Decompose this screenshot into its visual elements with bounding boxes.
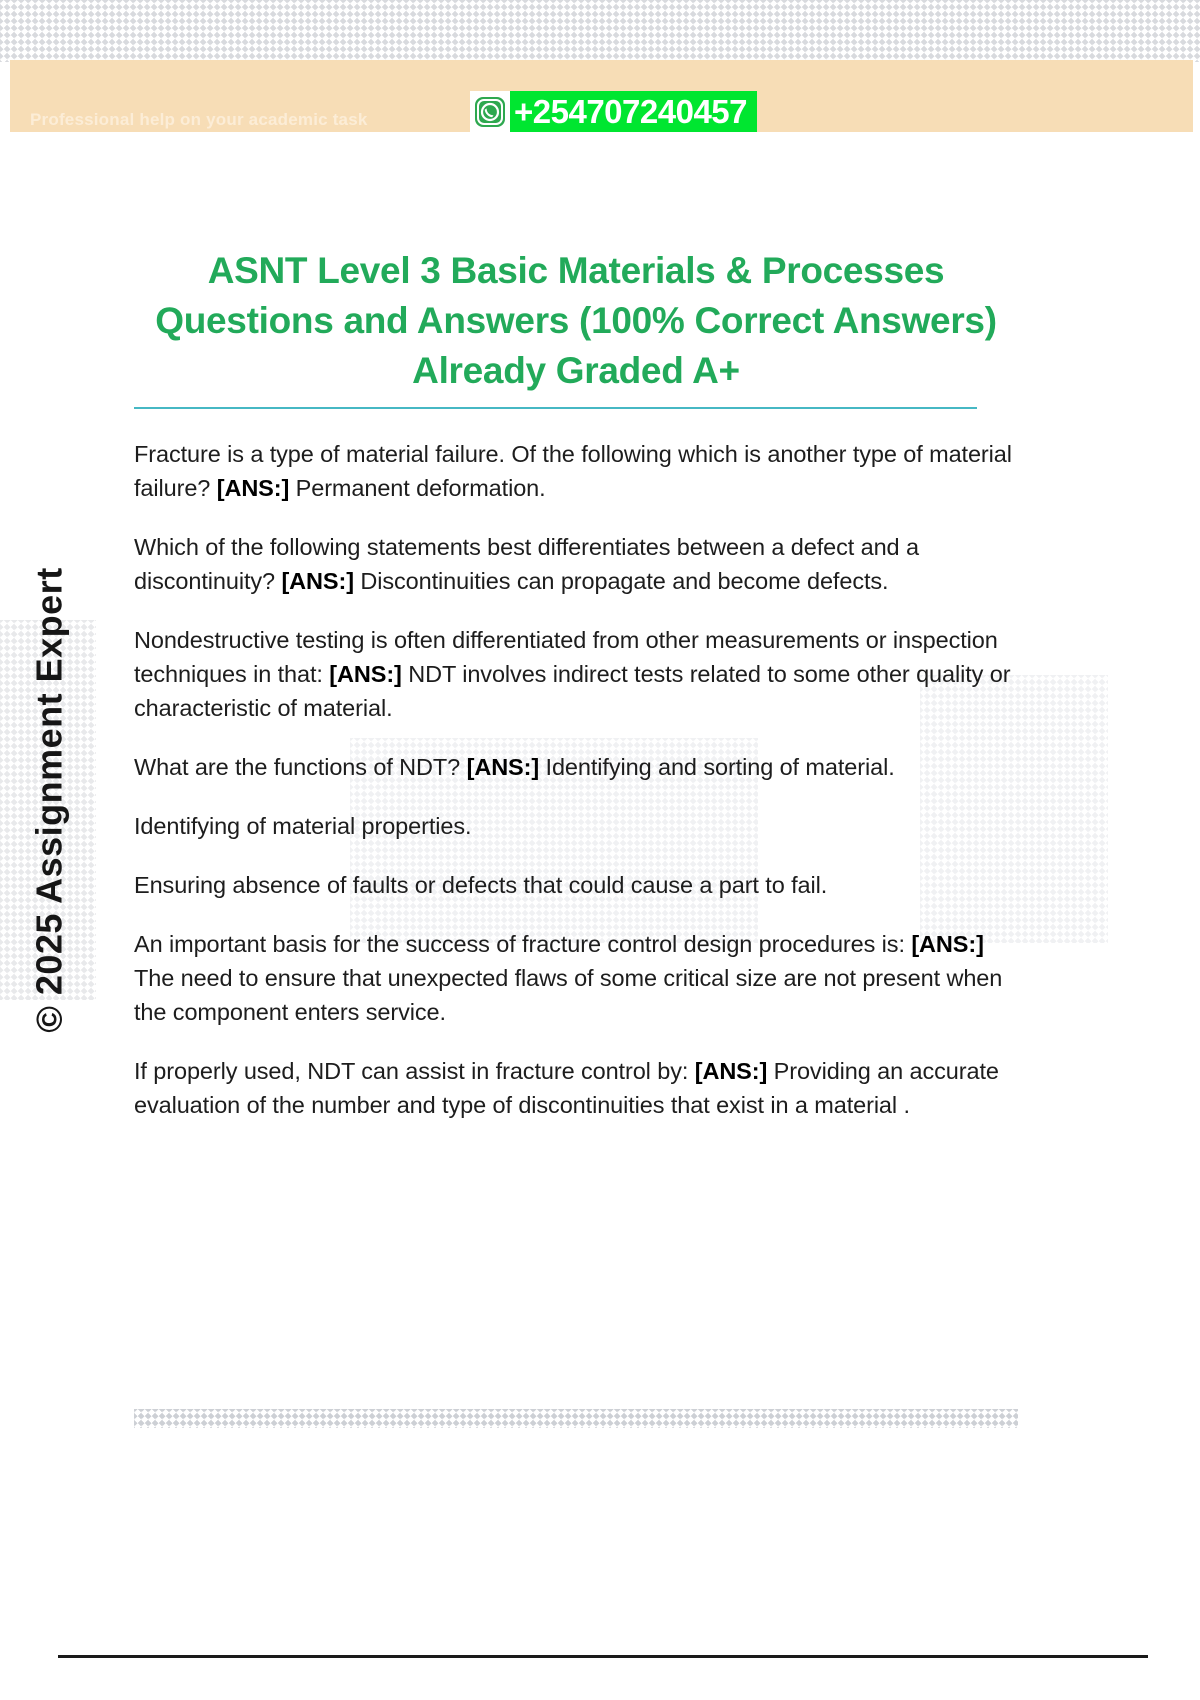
answer-tag: [ANS:] — [281, 568, 354, 594]
promo-banner-text: Professional help on your academic task — [30, 110, 368, 130]
qa-paragraph: What are the functions of NDT? [ANS:] Id… — [134, 750, 1018, 784]
qa-question: If properly used, NDT can assist in frac… — [134, 1058, 688, 1084]
qa-answer: The need to ensure that unexpected flaws… — [134, 965, 1002, 1025]
bottom-texture-band — [134, 1409, 1018, 1428]
page-title: ASNT Level 3 Basic Materials & Processes… — [134, 246, 1018, 396]
qa-answer: Permanent deformation. — [296, 475, 546, 501]
qa-answer: Ensuring absence of faults or defects th… — [134, 872, 827, 898]
qa-answer: Identifying and sorting of material. — [546, 754, 895, 780]
whatsapp-contact-chip[interactable]: +254707240457 — [470, 91, 757, 132]
whatsapp-icon — [470, 91, 510, 132]
whatsapp-phone-number[interactable]: +254707240457 — [510, 91, 757, 132]
qa-answer: Discontinuities can propagate and become… — [360, 568, 888, 594]
qa-paragraph: Identifying of material properties. — [134, 809, 1018, 843]
copyright-watermark-text: © 2025 Assignment Expert — [29, 567, 71, 1032]
answer-tag: [ANS:] — [695, 1058, 768, 1084]
qa-paragraph: An important basis for the success of fr… — [134, 927, 1018, 1029]
qa-paragraph: Fracture is a type of material failure. … — [134, 437, 1018, 505]
qa-question: What are the functions of NDT? — [134, 754, 460, 780]
answer-tag: [ANS:] — [467, 754, 540, 780]
answer-tag: [ANS:] — [911, 931, 984, 957]
top-texture-band — [0, 0, 1200, 62]
document-page: Professional help on your academic task … — [0, 0, 1200, 1700]
answer-tag: [ANS:] — [329, 661, 402, 687]
copyright-watermark: © 2025 Assignment Expert — [0, 540, 100, 1060]
qa-question: An important basis for the success of fr… — [134, 931, 905, 957]
qa-paragraph: Nondestructive testing is often differen… — [134, 623, 1018, 725]
title-divider — [134, 407, 977, 409]
qa-answer: Identifying of material properties. — [134, 813, 471, 839]
document-content: ASNT Level 3 Basic Materials & Processes… — [134, 246, 1018, 1122]
footer-divider — [58, 1655, 1148, 1658]
promo-banner: Professional help on your academic task … — [10, 60, 1193, 132]
answer-tag: [ANS:] — [217, 475, 290, 501]
qa-paragraph: If properly used, NDT can assist in frac… — [134, 1054, 1018, 1122]
qa-paragraph: Which of the following statements best d… — [134, 530, 1018, 598]
qa-paragraph: Ensuring absence of faults or defects th… — [134, 868, 1018, 902]
